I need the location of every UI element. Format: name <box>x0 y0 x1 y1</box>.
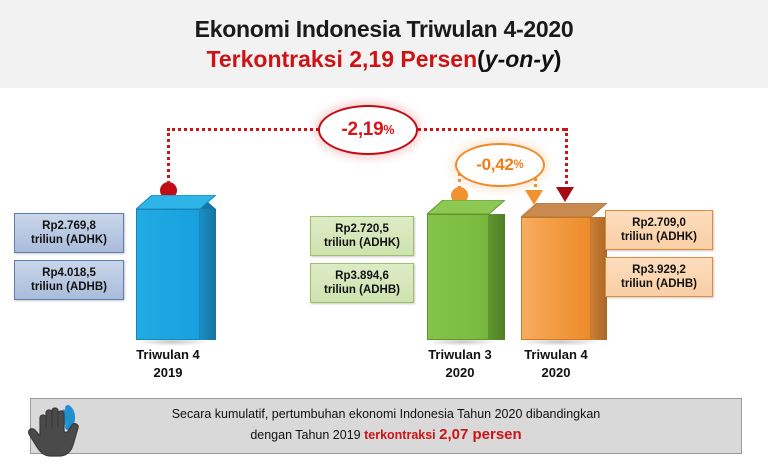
chip-unit: triliun (ADHB) <box>21 280 117 294</box>
callout-qtq-growth: -0,42% <box>455 143 545 187</box>
footer-note-line2-prefix: dengan Tahun 2019 <box>250 428 364 442</box>
footer-note-line2: dengan Tahun 2019 terkontraksi 2,07 pers… <box>250 424 521 447</box>
value-chip-adhk-tw4-2019: Rp2.769,8 triliun (ADHK) <box>14 213 124 253</box>
chart-area: -2,19% -0,42% Triwulan 4 2019 Rp2.769,8 … <box>0 88 768 388</box>
category-label-line2: 2019 <box>106 364 230 382</box>
chip-value: Rp3.929,2 <box>612 263 706 277</box>
chip-value: Rp3.894,6 <box>317 269 407 283</box>
bar-shadow <box>527 339 600 346</box>
chip-unit: triliun (ADHB) <box>612 277 706 291</box>
chip-value: Rp2.769,8 <box>21 219 117 233</box>
value-chip-adhk-tw3-2020: Rp2.720,5 triliun (ADHK) <box>310 216 414 256</box>
subtitle-paren-close: ) <box>554 46 562 72</box>
bar-top-cap <box>136 195 200 209</box>
bar-cap-shape <box>427 200 505 215</box>
subtitle-yoy-text: y-on-y <box>485 46 554 72</box>
callout-yoy-value: -2,19 <box>342 119 384 141</box>
footer-note-line1: Secara kumulatif, pertumbuhan ekonomi In… <box>172 405 601 424</box>
bar-cap-shape <box>521 203 607 218</box>
category-label-line2: 2020 <box>494 364 618 382</box>
page-subtitle: Terkontraksi 2,19 Persen(y-on-y) <box>207 46 562 72</box>
value-chip-adhk-tw4-2020: Rp2.709,0 triliun (ADHK) <box>605 210 713 250</box>
bar-top-cap <box>521 203 591 217</box>
connector-red-arrowhead <box>556 187 574 202</box>
footer-note-contraction-word: terkontraksi <box>364 428 439 442</box>
page-title: Ekonomi Indonesia Triwulan 4-2020 <box>195 16 574 42</box>
footer-note-contraction-value: 2,07 persen <box>439 426 522 443</box>
chip-value: Rp4.018,5 <box>21 266 117 280</box>
bar-cap-shape <box>136 195 216 210</box>
header-banner: Ekonomi Indonesia Triwulan 4-2020 Terkon… <box>0 0 768 88</box>
value-chip-adhb-tw4-2020: Rp3.929,2 triliun (ADHB) <box>605 257 713 297</box>
value-chip-adhb-tw3-2020: Rp3.894,6 triliun (ADHB) <box>310 263 414 303</box>
hand-pointer-icon <box>24 396 98 462</box>
bar-front-face <box>136 209 200 340</box>
infographic-root: Ekonomi Indonesia Triwulan 4-2020 Terkon… <box>0 0 768 470</box>
bar-tw4-2020 <box>521 203 591 340</box>
chip-value: Rp2.709,0 <box>612 216 706 230</box>
subtitle-contraction-text: Terkontraksi 2,19 Persen <box>207 46 478 72</box>
category-label-line1: Triwulan 4 <box>106 346 230 364</box>
bar-shadow <box>433 339 497 346</box>
callout-qtq-percent-sign: % <box>514 159 524 171</box>
callout-yoy-growth: -2,19% <box>318 105 418 155</box>
bar-front-face <box>427 214 489 340</box>
hand-pointer-glyph <box>24 396 98 462</box>
bar-side-body <box>489 214 505 340</box>
bar-shadow <box>142 339 209 346</box>
value-chip-adhb-tw4-2019: Rp4.018,5 triliun (ADHB) <box>14 260 124 300</box>
chip-unit: triliun (ADHK) <box>317 236 407 250</box>
bar-side-body <box>200 209 216 340</box>
connector-red-vertical-right <box>565 128 568 190</box>
bar-tw3-2020 <box>427 200 489 340</box>
category-label-tw4-2020: Triwulan 4 2020 <box>494 346 618 381</box>
category-label-line1: Triwulan 4 <box>494 346 618 364</box>
chip-unit: triliun (ADHK) <box>612 230 706 244</box>
callout-qtq-value: -0,42 <box>476 155 513 175</box>
bar-front-face <box>521 217 591 340</box>
chip-unit: triliun (ADHB) <box>317 283 407 297</box>
footer-note: Secara kumulatif, pertumbuhan ekonomi In… <box>30 398 742 454</box>
category-label-tw4-2019: Triwulan 4 2019 <box>106 346 230 381</box>
bar-top-cap <box>427 200 489 214</box>
chip-unit: triliun (ADHK) <box>21 233 117 247</box>
subtitle-paren-open: ( <box>477 46 485 72</box>
bar-tw4-2019 <box>136 195 200 340</box>
connector-red-vertical-left <box>167 128 170 184</box>
chip-value: Rp2.720,5 <box>317 222 407 236</box>
callout-yoy-percent-sign: % <box>383 123 394 137</box>
